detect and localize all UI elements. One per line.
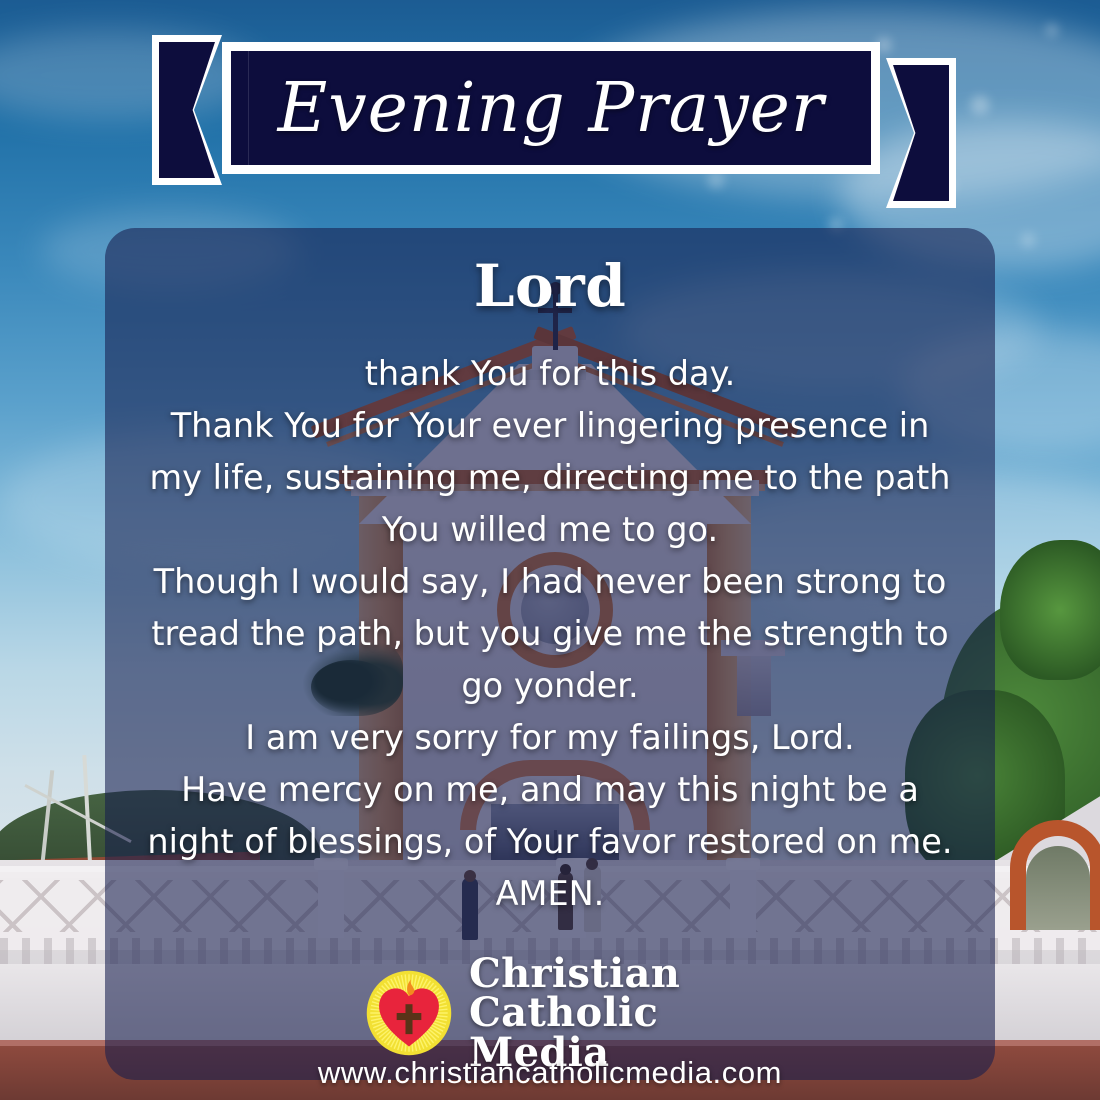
prayer-line: go yonder. <box>112 660 988 712</box>
prayer-line: You willed me to go. <box>112 504 988 556</box>
website-url: www.christiancatholicmedia.com <box>0 1055 1100 1091</box>
prayer-line: tread the path, but you give me the stre… <box>112 608 988 660</box>
sacred-heart-sunburst-icon <box>365 969 453 1057</box>
prayer-title: Lord <box>105 252 995 320</box>
prayer-line: my life, sustaining me, directing me to … <box>112 452 988 504</box>
prayer-body: thank You for this day.Thank You for You… <box>112 348 988 920</box>
brand-logo: Christian Catholic Media <box>365 963 735 1063</box>
brand-line-1: Christian <box>469 954 735 993</box>
prayer-line: AMEN. <box>112 868 988 920</box>
banner-title: Evening Prayer <box>231 51 871 165</box>
prayer-line: Though I would say, I had never been str… <box>112 556 988 608</box>
prayer-line: thank You for this day. <box>112 348 988 400</box>
arch-right-interior <box>1026 846 1090 930</box>
ribbon-tail-left <box>159 42 215 178</box>
prayer-line: I am very sorry for my failings, Lord. <box>112 712 988 764</box>
prayer-line: Thank You for Your ever lingering presen… <box>112 400 988 452</box>
prayer-card: Evening Prayer Lord thank You for this d… <box>0 0 1100 1100</box>
prayer-line: Have mercy on me, and may this night be … <box>112 764 988 816</box>
prayer-line: night of blessings, of Your favor restor… <box>112 816 988 868</box>
header-ribbon: Evening Prayer <box>0 0 1100 200</box>
ribbon-tail-right <box>893 65 949 201</box>
